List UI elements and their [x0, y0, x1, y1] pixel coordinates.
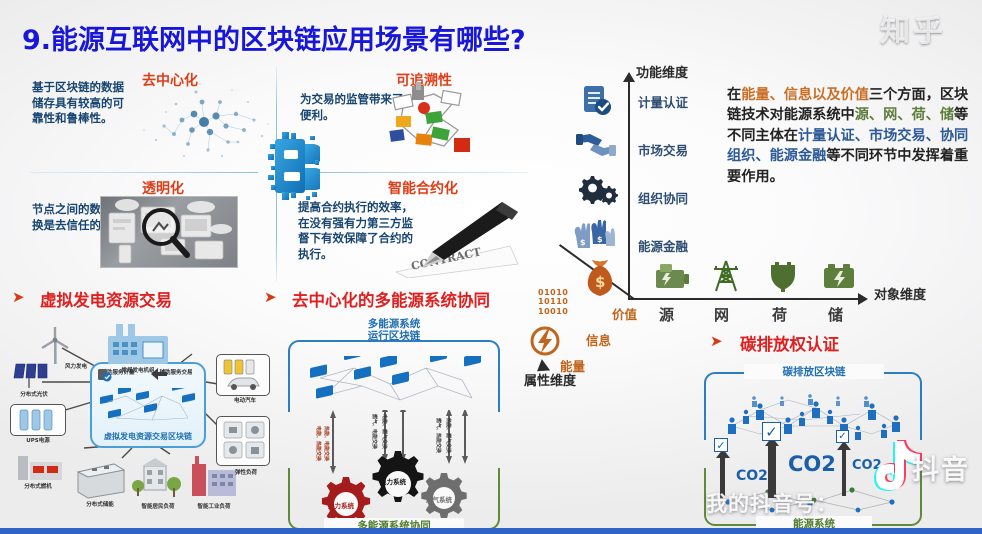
- mes-exchange-label-5: 热能、燃气交换: [445, 418, 452, 453]
- y-axis-title: 功能维度: [636, 62, 688, 81]
- x-tick-source: 源: [659, 304, 674, 325]
- x-axis-arrowhead: [858, 293, 868, 305]
- y-axis-arrowhead: [623, 72, 635, 82]
- money-bag-icon: $: [582, 258, 618, 298]
- x-tick-grid: 网: [714, 304, 729, 325]
- pen-contract-graphic: CONTRACT: [392, 198, 522, 278]
- vpp-core-nodes: [96, 388, 204, 432]
- multi-energy-diagram: 多能源系统 运行区块链: [268, 318, 520, 534]
- vpp-label-gasgen: 分布式燃机: [12, 482, 64, 490]
- x-axis-title: 对象维度: [874, 284, 926, 303]
- vpp-label-wind: 风力发电: [56, 362, 96, 370]
- section-heading-vpp: 虚拟发电资源交易: [40, 287, 172, 311]
- hands-money-icon: $ $: [572, 220, 618, 254]
- arrow-bullet-icon-mes: ➤: [264, 288, 277, 306]
- vpp-label-flexible: 弹性负荷: [222, 468, 270, 476]
- quadrant-divider-left: [30, 172, 258, 173]
- quadrant-divider-right: [306, 172, 528, 173]
- description-paragraph: 在能量、信息以及价值三个方面，区块链技术对能源系统中源、网、荷、储等不同主体在计…: [727, 85, 979, 187]
- flowchart-shapes-graphic: [382, 82, 482, 168]
- vpp-label-industrial: 智能工业负荷: [186, 502, 242, 510]
- vpp-label-residential: 智能居民负荷: [130, 502, 186, 510]
- vpp-blockchain-core: 辅助服务计量 辅助服务交易 虚拟发电资源交易区块链: [90, 362, 206, 448]
- svg-text:$: $: [597, 235, 603, 244]
- z-tick-energy: 能量: [560, 356, 585, 375]
- power-plant-icon: [102, 322, 174, 366]
- vpp-label-ups: UPS电源: [14, 436, 62, 444]
- devices-magnifier-graphic: [100, 196, 238, 268]
- para-seg-0: 在: [727, 87, 741, 103]
- section-heading-mes: 去中心化的多能源系统协同: [292, 287, 490, 311]
- vpp-trading-diagram: 辅助服务计量 辅助服务交易 虚拟发电资源交易区块链 风力发电: [6, 318, 264, 530]
- y-tick-market: 市场交易: [638, 140, 688, 159]
- energy-bolt-icon: [530, 326, 560, 356]
- checkbox-checked-icon-2: ✓: [762, 422, 781, 441]
- svg-text:$: $: [595, 273, 605, 291]
- douyin-watermark-text: 抖音: [912, 448, 970, 487]
- feature-transparency-title: 透明化: [142, 178, 184, 198]
- mes-exchange-label-2: 燃气、电能交换: [371, 414, 378, 449]
- arrow-bullet-icon-carbon: ➤: [710, 332, 723, 350]
- vpp-label-ev: 电动汽车: [222, 396, 268, 404]
- para-seg-3: 源、网、荷、储: [855, 107, 954, 123]
- y-tick-metering: 计量认证: [638, 92, 688, 111]
- battery-icon: [822, 262, 856, 290]
- gears-icon: [578, 174, 618, 208]
- zhihu-watermark: 知乎: [880, 6, 946, 50]
- mes-exchange-label-1: 热能、电能交换: [323, 426, 330, 461]
- blockchain-features-quadrant: 去中心化 基于区块链的数据储存具有较高的可靠性和鲁棒性。: [14, 66, 534, 281]
- x-axis-line: [628, 298, 860, 300]
- carbon-top-label: 碳排放区块链: [744, 364, 884, 379]
- ev-icon: [222, 358, 268, 392]
- mes-top-label-line2: 运行区块链: [314, 330, 474, 342]
- carbon-people-network: [718, 390, 908, 442]
- feature-smartcontract-title: 智能合约化: [388, 178, 458, 198]
- y-tick-finance: 能源金融: [638, 236, 688, 255]
- z-tick-information: 信息: [586, 330, 611, 349]
- x-tick-load: 荷: [772, 304, 787, 325]
- vpp-core-label: 虚拟发电资源交易区块链: [92, 431, 204, 442]
- handshake-icon: [576, 130, 616, 162]
- para-seg-1: 能量、信息以及价值: [741, 87, 869, 103]
- mes-exchange-label-0: 电能、热能交换: [315, 426, 322, 461]
- arrow-bullet-icon-vpp: ➤: [12, 288, 25, 306]
- battery-storage-icon: [74, 460, 128, 500]
- ups-battery-icon: [18, 408, 58, 432]
- flexible-load-icon: [222, 420, 268, 462]
- mes-blockchain-nodes: [302, 356, 488, 416]
- section-heading-carbon: 碳排放权认证: [740, 331, 839, 355]
- vpp-label-conventional: 常规发电机组: [108, 366, 168, 374]
- binary-code-text: 01010 10110 10010: [538, 288, 568, 316]
- bottom-blue-bar: [0, 528, 982, 534]
- solar-panel-icon: [12, 360, 58, 390]
- generator-icon: [654, 262, 690, 292]
- vpp-label-storage: 分布式储能: [72, 500, 128, 508]
- y-axis-line: [628, 78, 630, 300]
- document-check-icon: [579, 84, 613, 118]
- residential-load-icon: [132, 458, 184, 500]
- gas-turbine-icon: [14, 448, 66, 482]
- douyin-id-text: 我的抖音号：: [706, 488, 838, 518]
- checkbox-checked-icon-1: ✓: [714, 438, 728, 452]
- x-tick-storage: 储: [828, 304, 843, 325]
- mes-exchange-label-3: 电能、燃气交换: [381, 414, 388, 449]
- feature-decentralization-text: 基于区块链的数据储存具有较高的可靠性和鲁棒性。: [32, 80, 124, 127]
- vpp-label-pv: 分布式光伏: [10, 390, 58, 398]
- mes-top-label-line1: 多能源系统: [314, 318, 474, 330]
- svg-text:$: $: [580, 238, 586, 247]
- bitcoin-b-icon: [268, 128, 320, 204]
- mes-exchange-label-4: 燃气、热能交换: [435, 418, 442, 453]
- plug-icon: [768, 262, 798, 292]
- page-title: 9.能源互联网中的区块链应用场景有哪些?: [22, 18, 526, 57]
- point-cloud-network-graphic: [136, 80, 272, 166]
- z-tick-value: 价值: [612, 304, 637, 323]
- transmission-tower-icon: [710, 260, 742, 292]
- slide-canvas: 9.能源互联网中的区块链应用场景有哪些? 知乎: [0, 0, 982, 534]
- y-tick-organization: 组织协同: [638, 188, 688, 207]
- mes-top-label: 多能源系统 运行区块链: [314, 318, 474, 342]
- checkbox-checked-icon-3: ✓: [836, 430, 849, 443]
